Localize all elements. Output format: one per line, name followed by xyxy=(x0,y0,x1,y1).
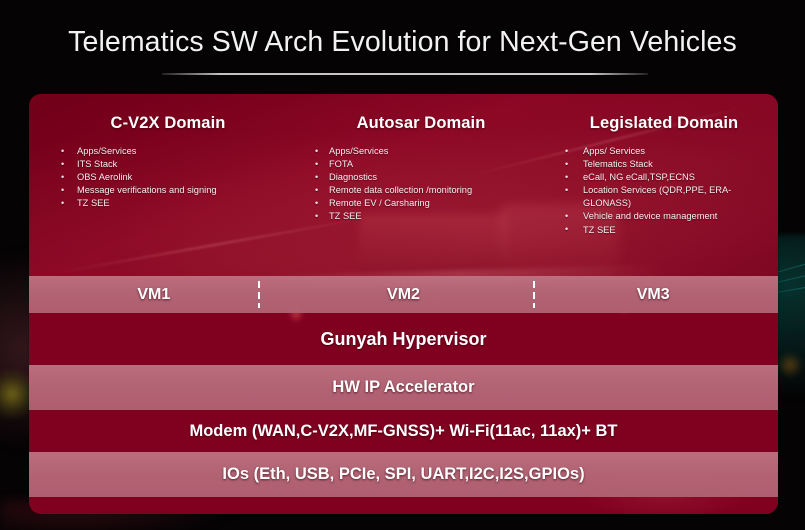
slide-canvas: Telematics SW Arch Evolution for Next-Ge… xyxy=(0,0,805,530)
domain-column-autosar: Autosar Domain Apps/Services FOTA Diagno… xyxy=(301,94,541,224)
vm-divider-1 xyxy=(258,281,260,308)
domain-bullet-list-legislated: Apps/ Services Telematics Stack eCall, N… xyxy=(553,145,775,237)
list-item: Apps/Services xyxy=(43,145,293,158)
domain-column-c-v2x: C-V2X Domain Apps/Services ITS Stack OBS… xyxy=(43,94,293,210)
list-item: Remote data collection /monitoring xyxy=(301,184,541,197)
background-glow-amber xyxy=(777,352,803,378)
domain-heading-autosar: Autosar Domain xyxy=(301,114,541,133)
list-item: Apps/ Services xyxy=(553,145,775,158)
list-item: Vehicle and device management xyxy=(553,210,775,223)
layer-modem: Modem (WAN,C-V2X,MF-GNSS)+ Wi-Fi(11ac, 1… xyxy=(29,410,778,452)
domain-columns: C-V2X Domain Apps/Services ITS Stack OBS… xyxy=(29,94,778,276)
vm-cell-3: VM3 xyxy=(528,286,778,304)
list-item: Telematics Stack xyxy=(553,158,775,171)
list-item: TZ SEE xyxy=(553,224,775,237)
list-item: Diagnostics xyxy=(301,171,541,184)
architecture-panel: C-V2X Domain Apps/Services ITS Stack OBS… xyxy=(29,94,778,514)
slide-title: Telematics SW Arch Evolution for Next-Ge… xyxy=(0,26,805,59)
title-underline-rule xyxy=(162,73,648,75)
list-item: OBS Aerolink xyxy=(43,171,293,184)
list-item: Remote EV / Carsharing xyxy=(301,197,541,210)
domain-heading-c-v2x: C-V2X Domain xyxy=(43,114,293,133)
domain-column-legislated: Legislated Domain Apps/ Services Telemat… xyxy=(553,94,775,237)
layer-ios: IOs (Eth, USB, PCIe, SPI, UART,I2C,I2S,G… xyxy=(29,452,778,497)
vm-layer-row: VM1 VM2 VM3 xyxy=(29,276,778,313)
domain-bullet-list-c-v2x: Apps/Services ITS Stack OBS Aerolink Mes… xyxy=(43,145,293,210)
list-item: Message verifications and signing xyxy=(43,184,293,197)
list-item: Apps/Services xyxy=(301,145,541,158)
domain-heading-legislated: Legislated Domain xyxy=(553,114,775,133)
list-item: Location Services (QDR,PPE, ERA-GLONASS) xyxy=(553,184,775,210)
list-item: eCall, NG eCall,TSP,ECNS xyxy=(553,171,775,184)
panel-footer-strip xyxy=(29,497,778,514)
domain-bullet-list-autosar: Apps/Services FOTA Diagnostics Remote da… xyxy=(301,145,541,224)
vm-cell-2: VM2 xyxy=(279,286,529,304)
list-item: ITS Stack xyxy=(43,158,293,171)
layer-hypervisor: Gunyah Hypervisor xyxy=(29,313,778,365)
layer-hw-ip-accelerator: HW IP Accelerator xyxy=(29,365,778,410)
vm-divider-2 xyxy=(533,281,535,308)
vm-cell-1: VM1 xyxy=(29,286,279,304)
list-item: TZ SEE xyxy=(43,197,293,210)
list-item: FOTA xyxy=(301,158,541,171)
list-item: TZ SEE xyxy=(301,210,541,223)
